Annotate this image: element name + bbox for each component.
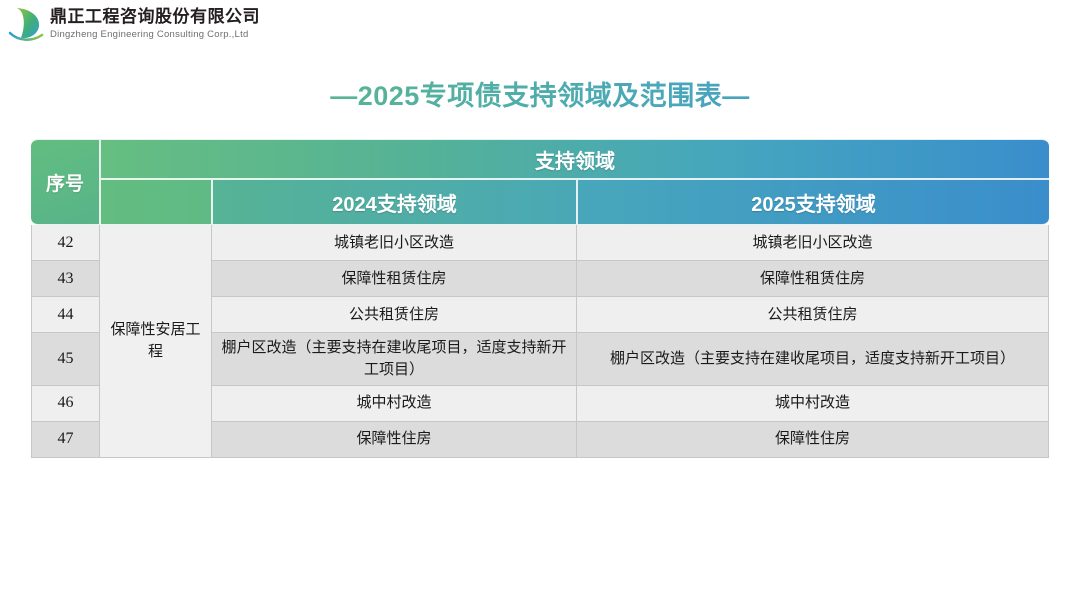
header-cell-2025: 2025支持领域 <box>577 179 1049 225</box>
cell-seq: 46 <box>31 386 100 422</box>
table-body: 42 保障性安居工程 城镇老旧小区改造 城镇老旧小区改造 43 保障性租赁住房 … <box>31 225 1049 458</box>
support-scope-table: 序号 支持领域 2024支持领域 2025支持领域 42 保障性安居工程 城镇老… <box>31 139 1049 458</box>
cell-2025: 公共租赁住房 <box>577 297 1049 333</box>
table-header-row-group: 序号 支持领域 <box>31 139 1049 179</box>
cell-seq: 44 <box>31 297 100 333</box>
cell-2024: 城镇老旧小区改造 <box>212 225 577 261</box>
page-title: —2025专项债支持领域及范围表— <box>0 74 1080 113</box>
cell-2024: 棚户区改造（主要支持在建收尾项目，适度支持新开工项目） <box>212 333 577 386</box>
cell-seq: 45 <box>31 333 100 386</box>
cell-2024: 保障性租赁住房 <box>212 261 577 297</box>
table-header-row-sub: 2024支持领域 2025支持领域 <box>31 179 1049 225</box>
header-cell-support-scope: 支持领域 <box>100 139 1049 179</box>
dingzheng-d-logo-icon <box>8 4 44 44</box>
cell-2024: 城中村改造 <box>212 386 577 422</box>
support-scope-table-wrapper: 序号 支持领域 2024支持领域 2025支持领域 42 保障性安居工程 城镇老… <box>31 139 1049 458</box>
cell-2025: 棚户区改造（主要支持在建收尾项目，适度支持新开工项目） <box>577 333 1049 386</box>
cell-2025: 保障性住房 <box>577 422 1049 458</box>
cell-2024: 公共租赁住房 <box>212 297 577 333</box>
table-header: 序号 支持领域 2024支持领域 2025支持领域 <box>31 139 1049 225</box>
cell-2025: 保障性租赁住房 <box>577 261 1049 297</box>
cell-2025: 城中村改造 <box>577 386 1049 422</box>
header-cell-seq: 序号 <box>31 139 100 225</box>
cell-category: 保障性安居工程 <box>100 225 212 458</box>
brand-text-block: 鼎正工程咨询股份有限公司 Dingzheng Engineering Consu… <box>50 8 260 40</box>
brand-header: 鼎正工程咨询股份有限公司 Dingzheng Engineering Consu… <box>8 4 260 44</box>
brand-name-en: Dingzheng Engineering Consulting Corp.,L… <box>50 30 260 40</box>
brand-name-cn: 鼎正工程咨询股份有限公司 <box>50 8 260 25</box>
cell-seq: 42 <box>31 225 100 261</box>
table-row: 42 保障性安居工程 城镇老旧小区改造 城镇老旧小区改造 <box>31 225 1049 261</box>
cell-2025: 城镇老旧小区改造 <box>577 225 1049 261</box>
cell-seq: 47 <box>31 422 100 458</box>
cell-seq: 43 <box>31 261 100 297</box>
header-cell-2024: 2024支持领域 <box>212 179 577 225</box>
header-cell-category-blank <box>100 179 212 225</box>
cell-2024: 保障性住房 <box>212 422 577 458</box>
